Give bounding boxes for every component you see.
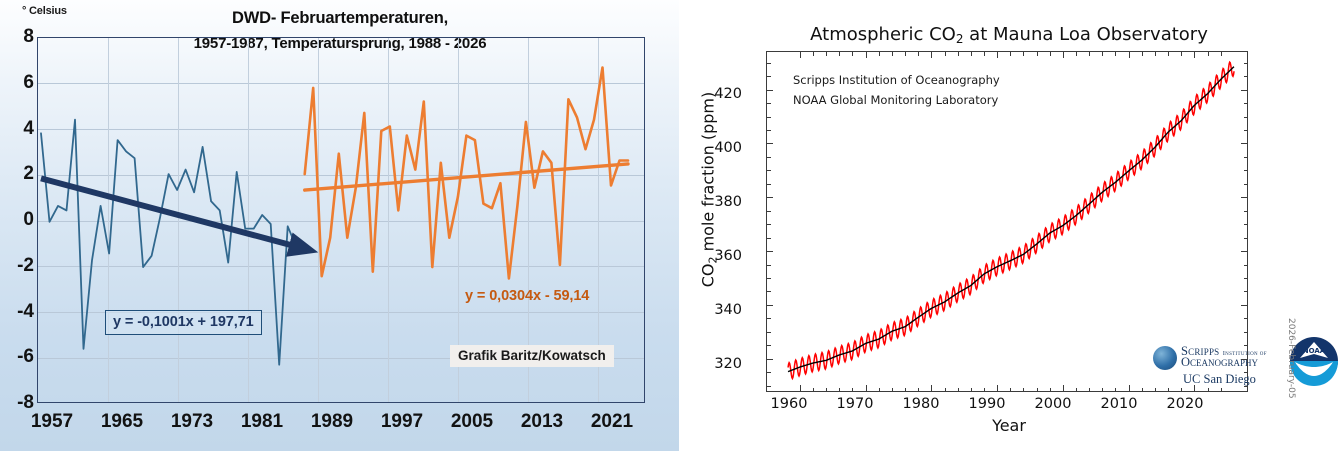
left-ytick-4: 4: [0, 118, 34, 140]
co2-ytick-minor-right-405: [1244, 130, 1248, 131]
left-ytick-0: 0: [0, 209, 34, 231]
co2-ytick-minor-330: [767, 332, 771, 333]
co2-xtick-minor-top-1988: [984, 52, 985, 56]
orange-temperature-series: [305, 68, 628, 279]
dwd-temperature-chart-panel: ° Celsius DWD- Februartemperaturen, 1957…: [0, 0, 680, 451]
co2-ytick-minor-410: [767, 117, 771, 118]
co2-xtick-minor-top-2008: [1115, 52, 1116, 56]
co2-xtick-1970: 1970: [825, 396, 885, 412]
co2-series-svg: [767, 52, 1247, 391]
screenshot-root: ° Celsius DWD- Februartemperaturen, 1957…: [0, 0, 1338, 451]
co2-xtick-minor-1988: [984, 388, 985, 392]
co2-xtick-minor-top-2014: [1155, 52, 1156, 56]
co2-xtick-minor-top-1966: [839, 52, 840, 56]
co2-ytick-minor-right-345: [1244, 291, 1248, 292]
graphic-credit-label: Grafik Baritz/Kowatsch: [450, 345, 614, 367]
co2-ytick-mark-right-320: [1241, 359, 1247, 360]
co2-xtick-minor-2014: [1155, 388, 1156, 392]
co2-ytick-minor-right-335: [1244, 318, 1248, 319]
co2-xtick-minor-top-1972: [879, 52, 880, 56]
co2-xtick-minor-1974: [892, 388, 893, 392]
co2-xtick-1990: 1990: [957, 396, 1017, 412]
co2-xtick-minor-1996: [1037, 388, 1038, 392]
co2-xtick-minor-top-2012: [1142, 52, 1143, 56]
co2-ylabel-prefix: CO: [699, 264, 718, 288]
co2-ytick-minor-right-325: [1244, 345, 1248, 346]
co2-ytick-mark-320: [767, 359, 773, 360]
co2-xtick-minor-top-1992: [1010, 52, 1011, 56]
co2-xtick-minor-1994: [1023, 388, 1024, 392]
co2-ytick-mark-360: [767, 251, 773, 252]
co2-xtick-minor-top-1994: [1023, 52, 1024, 56]
co2-ytick-minor-385: [767, 184, 771, 185]
co2-xtick-minor-top-2016: [1168, 52, 1169, 56]
co2-xtick-mark-top-2020: [1194, 52, 1195, 58]
co2-ytick-minor-395: [767, 157, 771, 158]
co2-xtick-minor-top-1984: [958, 52, 959, 56]
co2-ytick-mark-right-360: [1241, 251, 1247, 252]
co2-xtick-minor-top-1998: [1050, 52, 1051, 56]
co2-xtick-mark-top-1980: [931, 52, 932, 58]
co2-xtick-minor-2016: [1168, 388, 1169, 392]
co2-ytick-mark-420: [767, 90, 773, 91]
co2-xtick-minor-2006: [1102, 388, 1103, 392]
co2-xtick-2010: 2010: [1089, 396, 1149, 412]
left-ytick-m6: -6: [0, 346, 34, 368]
co2-ytick-minor-315: [767, 372, 771, 373]
scripps-logo: Scripps Institution of Oceanography UC S…: [1153, 342, 1281, 388]
co2-ytick-400: 400: [698, 140, 742, 156]
co2-xtick-mark-1960: [800, 385, 801, 391]
co2-ytick-minor-right-390: [1244, 170, 1248, 171]
co2-xtick-minor-top-2022: [1208, 52, 1209, 56]
co2-xtick-minor-1964: [826, 388, 827, 392]
co2-ylabel-suffix: mole fraction (ppm): [699, 92, 718, 257]
y-axis-unit-label: ° Celsius: [22, 5, 67, 17]
co2-ytick-minor-370: [767, 224, 771, 225]
co2-ytick-mark-400: [767, 143, 773, 144]
co2-ytick-minor-right-375: [1244, 211, 1248, 212]
co2-ytick-minor-335: [767, 318, 771, 319]
co2-ytick-mark-340: [767, 305, 773, 306]
co2-ytick-minor-right-410: [1244, 117, 1248, 118]
left-xtick-2021: 2021: [582, 411, 642, 433]
co2-xtick-minor-top-1986: [971, 52, 972, 56]
co2-ytick-minor-355: [767, 265, 771, 266]
co2-xtick-minor-1982: [945, 388, 946, 392]
noaa-logo-text: NOAA: [1303, 347, 1326, 355]
co2-xtick-1980: 1980: [891, 396, 951, 412]
left-xtick-2005: 2005: [442, 411, 502, 433]
co2-ytick-minor-right-370: [1244, 224, 1248, 225]
co2-ytick-minor-right-315: [1244, 372, 1248, 373]
co2-ytick-minor-right-430: [1244, 63, 1248, 64]
co2-xtick-minor-1992: [1010, 388, 1011, 392]
co2-xtick-minor-2008: [1115, 388, 1116, 392]
co2-ytick-360: 360: [698, 248, 742, 264]
co2-xtick-mark-top-1970: [866, 52, 867, 58]
co2-ytick-minor-425: [767, 76, 771, 77]
co2-xtick-mark-top-2010: [1129, 52, 1130, 58]
co2-ytick-minor-right-385: [1244, 184, 1248, 185]
co2-xtick-minor-1986: [971, 388, 972, 392]
co2-xtick-2020: 2020: [1155, 396, 1215, 412]
co2-x-axis-label: Year: [680, 416, 1338, 435]
co2-xtick-minor-top-1962: [813, 52, 814, 56]
co2-xtick-minor-1968: [852, 388, 853, 392]
left-ytick-m4: -4: [0, 301, 34, 323]
co2-xtick-minor-2022: [1208, 388, 1209, 392]
co2-xtick-minor-1966: [839, 388, 840, 392]
co2-xtick-mark-2010: [1129, 385, 1130, 391]
co2-xtick-minor-1998: [1050, 388, 1051, 392]
co2-xtick-1960: 1960: [759, 396, 819, 412]
co2-xtick-minor-top-2024: [1221, 52, 1222, 56]
left-xtick-1981: 1981: [232, 411, 292, 433]
co2-date-stamp: 2026-February-05: [1286, 318, 1296, 399]
co2-xtick-minor-top-2002: [1076, 52, 1077, 56]
co2-ytick-minor-350: [767, 278, 771, 279]
co2-ytick-minor-365: [767, 238, 771, 239]
co2-ytick-mark-380: [767, 197, 773, 198]
co2-xtick-mark-1990: [997, 385, 998, 391]
co2-ytick-minor-325: [767, 345, 771, 346]
co2-monthly-series: [788, 62, 1234, 378]
co2-ytick-minor-right-310: [1244, 386, 1248, 387]
co2-xtick-mark-2020: [1194, 385, 1195, 391]
co2-ytick-minor-415: [767, 103, 771, 104]
co2-xtick-mark-1980: [931, 385, 932, 391]
co2-xtick-minor-top-1976: [905, 52, 906, 56]
co2-xtick-minor-top-1996: [1037, 52, 1038, 56]
co2-xtick-minor-1978: [918, 388, 919, 392]
left-xtick-2013: 2013: [512, 411, 572, 433]
co2-ytick-340: 340: [698, 302, 742, 318]
co2-xtick-minor-1984: [958, 388, 959, 392]
co2-xtick-minor-2012: [1142, 388, 1143, 392]
orange-trend-equation-label: y = 0,0304x - 59,14: [465, 288, 589, 304]
co2-ytick-mark-right-400: [1241, 143, 1247, 144]
co2-ytick-minor-375: [767, 211, 771, 212]
co2-xtick-minor-top-1974: [892, 52, 893, 56]
co2-xtick-minor-1976: [905, 388, 906, 392]
co2-ytick-minor-right-350: [1244, 278, 1248, 279]
left-ytick-8: 8: [0, 26, 34, 48]
co2-xtick-minor-2018: [1181, 388, 1182, 392]
co2-ytick-minor-right-395: [1244, 157, 1248, 158]
co2-xtick-mark-1970: [866, 385, 867, 391]
co2-ytick-minor-310: [767, 386, 771, 387]
co2-plot-area: Scripps Institution of Oceanography NOAA…: [766, 51, 1248, 392]
co2-ytick-minor-430: [767, 63, 771, 64]
left-xtick-1973: 1973: [162, 411, 222, 433]
co2-title-suffix: at Mauna Loa Observatory: [963, 24, 1207, 45]
co2-xtick-mark-top-1990: [997, 52, 998, 58]
co2-xtick-minor-1972: [879, 388, 880, 392]
co2-y-axis-label: CO2 mole fraction (ppm): [699, 40, 718, 340]
left-xtick-1989: 1989: [302, 411, 362, 433]
co2-xtick-mark-top-1960: [800, 52, 801, 58]
blue-trend-equation-label: y = -0,1001x + 197,71: [105, 310, 262, 335]
noaa-logo: NOAA: [1289, 336, 1338, 390]
co2-xtick-mark-top-2000: [1063, 52, 1064, 58]
co2-mauna-loa-chart-panel: Atmospheric CO2 at Mauna Loa Observatory…: [680, 0, 1338, 451]
left-xtick-1957: 1957: [22, 411, 82, 433]
co2-xtick-minor-2002: [1076, 388, 1077, 392]
co2-ytick-minor-405: [767, 130, 771, 131]
co2-xtick-mark-2000: [1063, 385, 1064, 391]
co2-xtick-minor-top-1968: [852, 52, 853, 56]
orange-trendline: [305, 164, 628, 190]
co2-xtick-minor-top-1964: [826, 52, 827, 56]
co2-xtick-minor-2024: [1221, 388, 1222, 392]
co2-ytick-minor-345: [767, 291, 771, 292]
co2-xtick-2000: 2000: [1023, 396, 1083, 412]
left-ytick-6: 6: [0, 72, 34, 94]
co2-ytick-minor-right-355: [1244, 265, 1248, 266]
co2-ytick-minor-right-425: [1244, 76, 1248, 77]
co2-ytick-mark-right-340: [1241, 305, 1247, 306]
co2-xtick-minor-2004: [1089, 388, 1090, 392]
scripps-globe-icon: [1153, 346, 1177, 370]
left-xtick-1965: 1965: [92, 411, 152, 433]
co2-ytick-minor-right-330: [1244, 332, 1248, 333]
co2-ytick-minor-right-415: [1244, 103, 1248, 104]
co2-xtick-minor-1962: [813, 388, 814, 392]
co2-xtick-minor-top-1982: [945, 52, 946, 56]
co2-trend-series: [788, 67, 1234, 372]
co2-ytick-mark-right-380: [1241, 197, 1247, 198]
co2-xtick-minor-top-2004: [1089, 52, 1090, 56]
co2-ytick-320: 320: [698, 356, 742, 372]
co2-ytick-mark-right-420: [1241, 90, 1247, 91]
co2-chart-title: Atmospheric CO2 at Mauna Loa Observatory: [680, 24, 1338, 45]
co2-xtick-minor-top-2006: [1102, 52, 1103, 56]
co2-xtick-minor-top-1978: [918, 52, 919, 56]
co2-title-prefix: Atmospheric CO: [810, 24, 956, 45]
co2-ytick-380: 380: [698, 194, 742, 210]
scripps-logo-line2: Oceanography: [1181, 355, 1258, 370]
co2-ytick-minor-390: [767, 170, 771, 171]
co2-ytick-420: 420: [698, 86, 742, 102]
co2-title-subscript: 2: [956, 32, 964, 46]
co2-ytick-minor-right-365: [1244, 238, 1248, 239]
left-ytick-m2: -2: [0, 255, 34, 277]
left-ytick-2: 2: [0, 163, 34, 185]
left-chart-title-line1: DWD- Februartemperaturen,: [232, 9, 448, 27]
left-xtick-1997: 1997: [372, 411, 432, 433]
co2-xtick-minor-top-2018: [1181, 52, 1182, 56]
